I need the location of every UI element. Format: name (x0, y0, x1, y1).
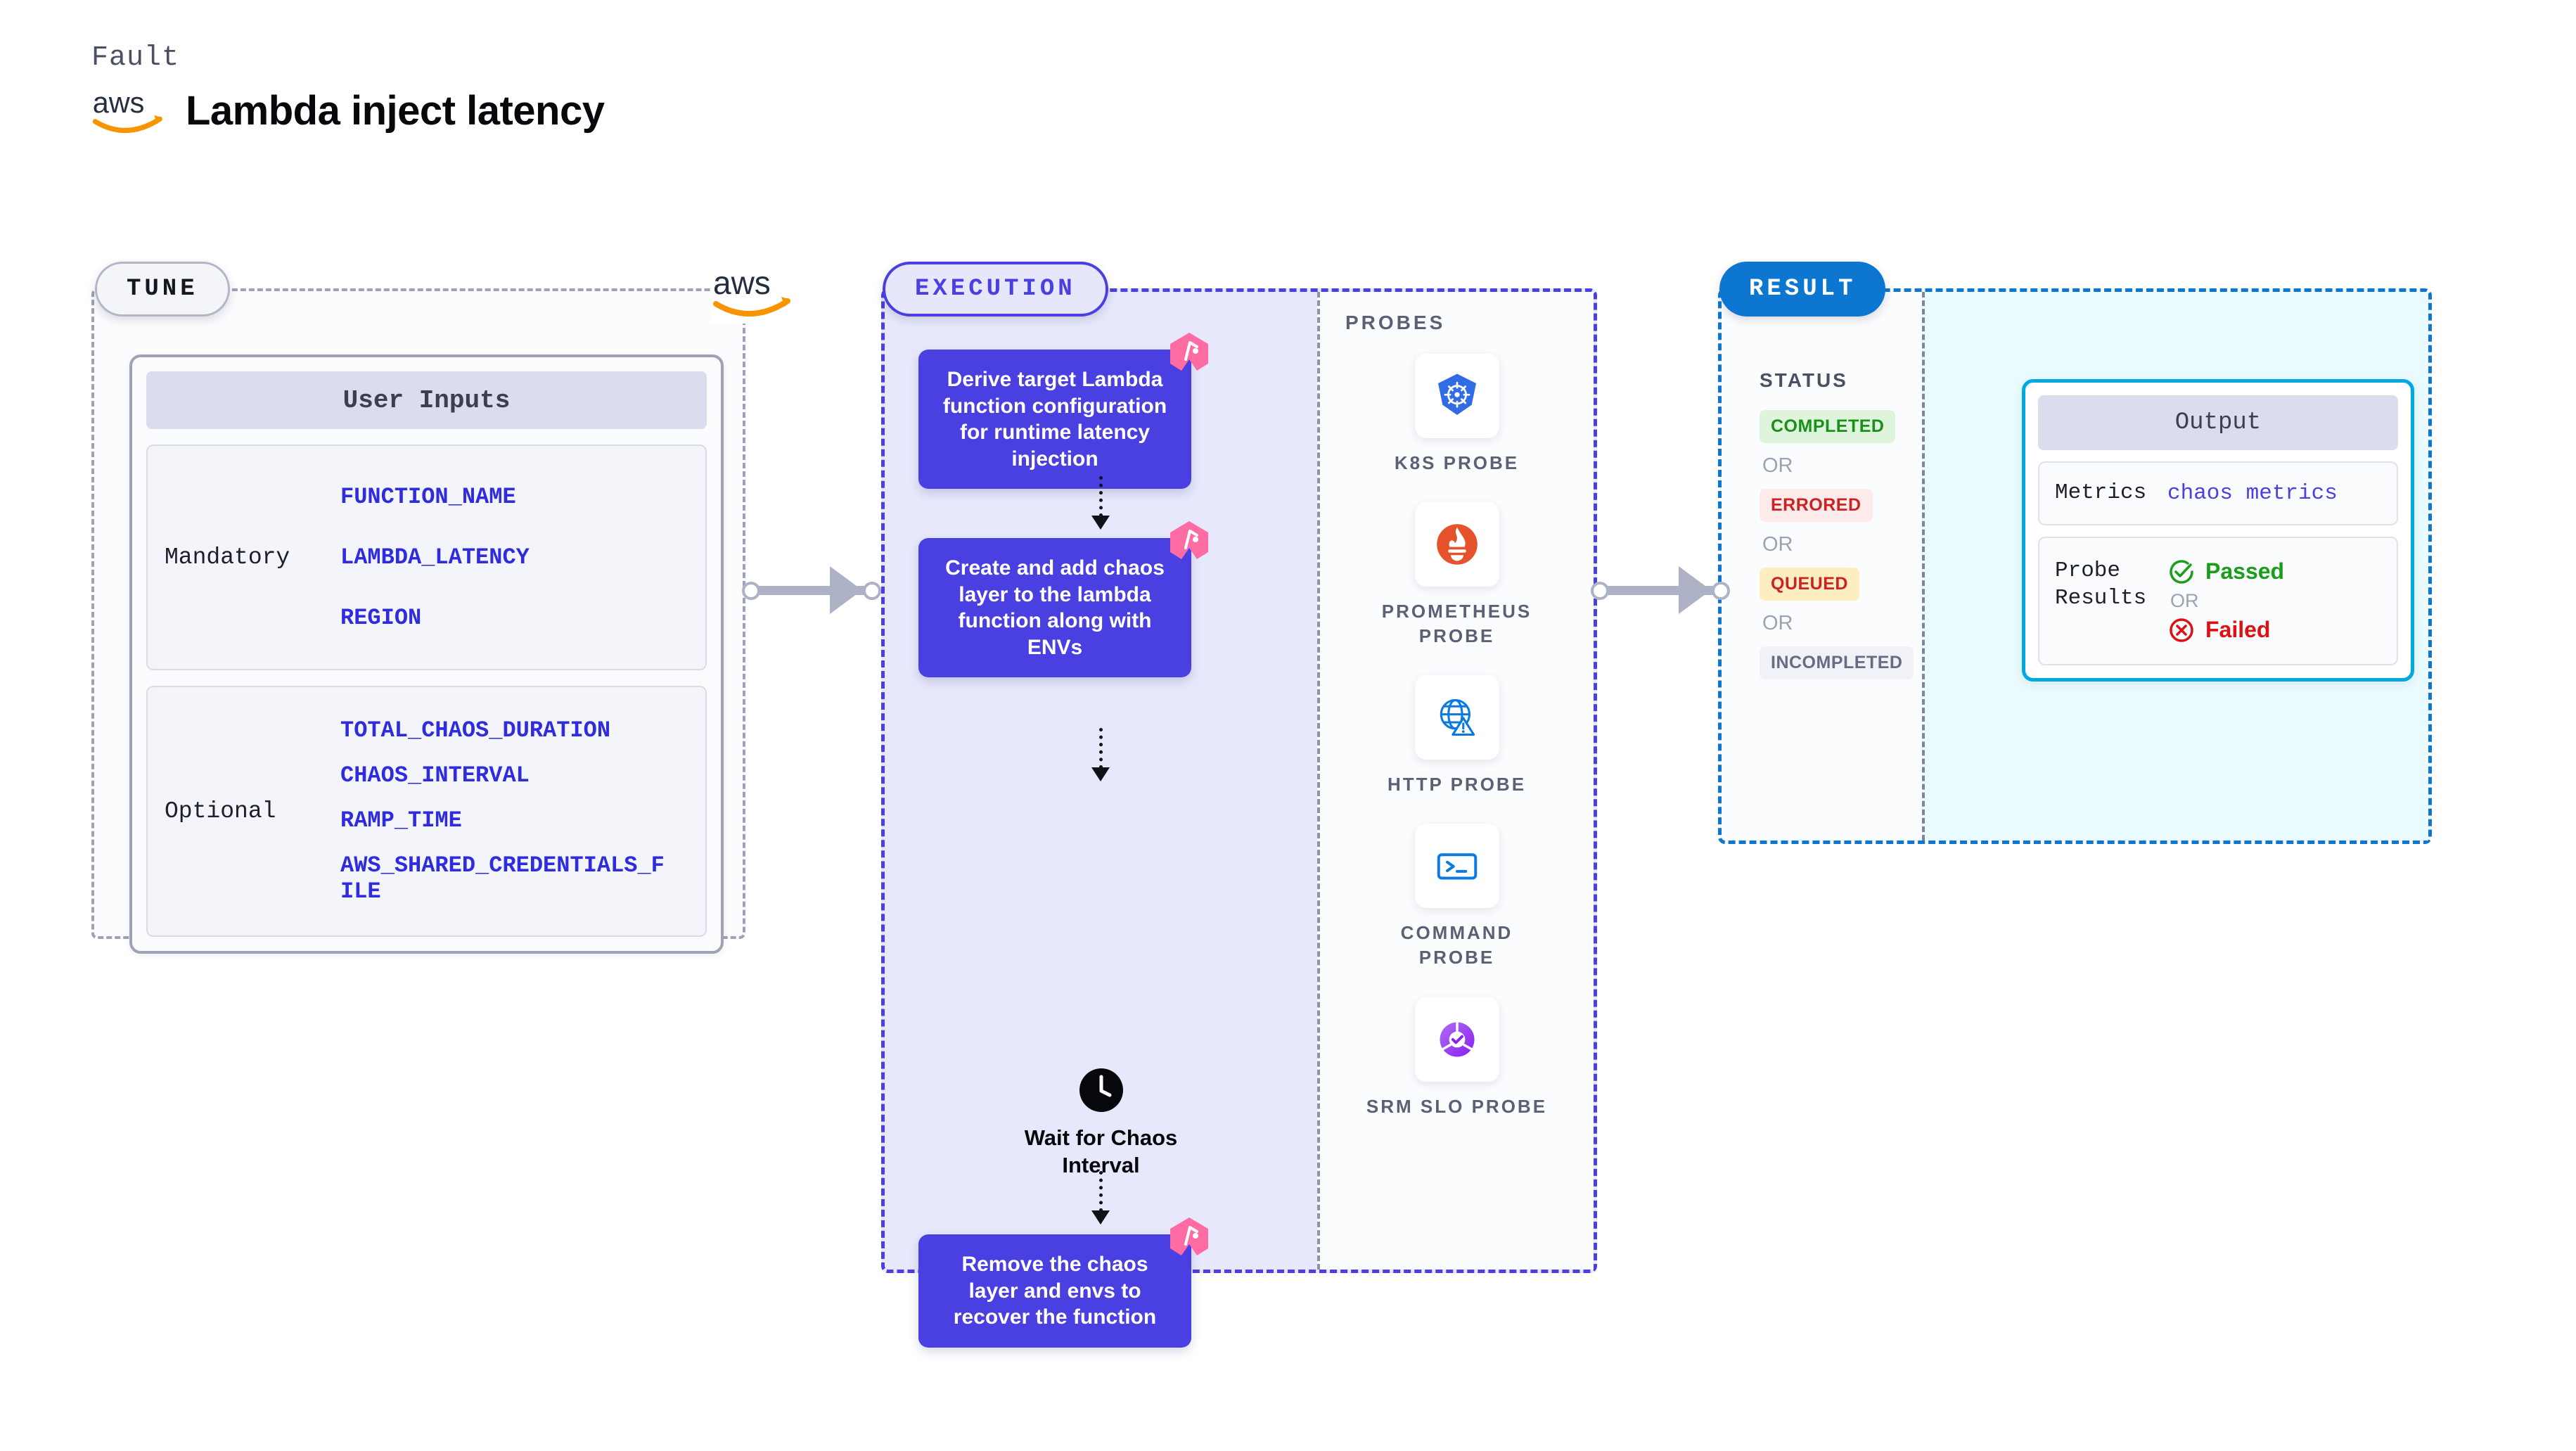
probe-result-or: OR (2170, 590, 2284, 612)
wait-for-chaos-interval-node: Wait for Chaos Interval (885, 1067, 1317, 1180)
execution-arrow-1 (1099, 476, 1103, 517)
optional-label: Optional (165, 798, 340, 824)
tune-section: User Inputs Mandatory FUNCTION_NAME LAMB… (91, 288, 745, 939)
x-circle-icon (2167, 616, 2196, 644)
execution-step-3-label: Remove the chaos layer and envs to recov… (954, 1253, 1156, 1329)
connector-execution-to-result (1591, 563, 1742, 619)
probe-result-failed-label: Failed (2205, 617, 2270, 643)
status-or-1: OR (1762, 454, 1793, 478)
http-globe-icon (1415, 675, 1499, 760)
result-section-pill: RESULT (1719, 262, 1885, 317)
svg-text:aws: aws (713, 264, 771, 301)
output-card: Output Metrics chaos metrics Probe Resul… (2022, 379, 2414, 682)
tune-pill-label: TUNE (127, 276, 198, 302)
probe-item-prometheus[interactable]: PROMETHEUS PROBE (1366, 502, 1549, 648)
prometheus-icon (1415, 502, 1499, 587)
terminal-icon (1415, 824, 1499, 908)
user-inputs-card: User Inputs Mandatory FUNCTION_NAME LAMB… (129, 354, 724, 954)
execution-arrow-1-head (1091, 516, 1110, 530)
param-function-name[interactable]: FUNCTION_NAME (340, 484, 530, 511)
metrics-key: Metrics (2055, 480, 2167, 507)
status-or-2: OR (1762, 533, 1793, 556)
user-inputs-title: User Inputs (146, 371, 707, 429)
status-title: STATUS (1760, 369, 1848, 392)
execution-pill-label: EXECUTION (915, 276, 1076, 302)
mandatory-label: Mandatory (165, 544, 340, 570)
page-title: Lambda inject latency (186, 87, 604, 134)
execution-section-pill: EXECUTION (883, 262, 1108, 317)
status-badge-completed: COMPLETED (1760, 410, 1895, 443)
connector-tune-to-execution (742, 563, 890, 619)
execution-step-1-label: Derive target Lambda function configurat… (943, 368, 1167, 471)
clock-icon (1078, 1067, 1124, 1113)
probe-item-http[interactable]: HTTP PROBE (1366, 675, 1549, 797)
probe-label-http: HTTP PROBE (1388, 772, 1526, 797)
output-column: Output Metrics chaos metrics Probe Resul… (1922, 292, 2428, 840)
execution-arrow-2 (1099, 728, 1103, 769)
probe-item-k8s[interactable]: K8S PROBE (1366, 354, 1549, 475)
status-badge-errored: ERRORED (1760, 489, 1873, 522)
litmus-logo-icon (1169, 331, 1210, 372)
status-or-3: OR (1762, 612, 1793, 635)
execution-steps-column: Derive target Lambda function configurat… (885, 292, 1317, 1270)
status-badge-incompleted: INCOMPLETED (1760, 646, 1914, 679)
probe-label-command: COMMAND PROBE (1366, 921, 1549, 970)
probe-label-prometheus: PROMETHEUS PROBE (1366, 599, 1549, 648)
probe-result-passed: Passed (2167, 558, 2284, 586)
aws-logo-badge: aws (710, 259, 795, 324)
probe-label-k8s: K8S PROBE (1395, 451, 1519, 475)
mandatory-param-group: Mandatory FUNCTION_NAME LAMBDA_LATENCY R… (146, 445, 707, 670)
param-total-chaos-duration[interactable]: TOTAL_CHAOS_DURATION (340, 717, 671, 744)
execution-step-2[interactable]: Create and add chaos layer to the lambda… (918, 538, 1191, 677)
kubernetes-icon (1415, 354, 1499, 438)
execution-arrow-2-head (1091, 767, 1110, 781)
probes-column: PROBES (1317, 292, 1594, 1270)
probe-results-row: Probe Results Passed OR (2038, 537, 2398, 665)
metrics-link[interactable]: chaos metrics (2167, 481, 2338, 506)
svg-text:aws: aws (93, 87, 145, 119)
probe-results-key: Probe Results (2055, 558, 2167, 613)
result-section: STATUS COMPLETED OR ERRORED OR QUEUED OR… (1718, 288, 2432, 844)
param-lambda-latency[interactable]: LAMBDA_LATENCY (340, 544, 530, 571)
status-column: STATUS COMPLETED OR ERRORED OR QUEUED OR… (1722, 292, 1922, 840)
execution-arrow-3 (1099, 1171, 1103, 1212)
execution-section: Derive target Lambda function configurat… (881, 288, 1597, 1273)
probe-item-command[interactable]: COMMAND PROBE (1366, 824, 1549, 970)
output-title: Output (2038, 395, 2398, 450)
probe-result-passed-label: Passed (2205, 558, 2284, 584)
param-aws-shared-credentials-file[interactable]: AWS_SHARED_CREDENTIALS_FILE (340, 852, 671, 906)
param-ramp-time[interactable]: RAMP_TIME (340, 807, 671, 834)
execution-arrow-3-head (1091, 1210, 1110, 1225)
execution-step-2-label: Create and add chaos layer to the lambda… (945, 556, 1165, 659)
page-header: Fault aws Lambda inject latency (91, 42, 604, 139)
litmus-logo-icon (1169, 520, 1210, 561)
param-chaos-interval[interactable]: CHAOS_INTERVAL (340, 762, 671, 789)
probe-item-srm-slo[interactable]: SRM SLO PROBE (1366, 997, 1549, 1119)
probe-result-failed: Failed (2167, 616, 2284, 644)
srm-slo-icon (1415, 997, 1499, 1082)
litmus-logo-icon (1169, 1216, 1210, 1257)
tune-section-pill: TUNE (95, 262, 230, 317)
execution-step-1[interactable]: Derive target Lambda function configurat… (918, 350, 1191, 489)
execution-step-3[interactable]: Remove the chaos layer and envs to recov… (918, 1234, 1191, 1348)
check-circle-icon (2167, 558, 2196, 586)
fault-label: Fault (91, 42, 604, 74)
probes-title: PROBES (1345, 312, 1445, 334)
result-pill-label: RESULT (1749, 276, 1856, 302)
status-badge-queued: QUEUED (1760, 568, 1859, 601)
probe-label-srm-slo: SRM SLO PROBE (1366, 1094, 1547, 1119)
optional-param-group: Optional TOTAL_CHAOS_DURATION CHAOS_INTE… (146, 686, 707, 937)
metrics-row: Metrics chaos metrics (2038, 461, 2398, 525)
aws-logo: aws (91, 82, 167, 139)
param-region[interactable]: REGION (340, 605, 530, 632)
